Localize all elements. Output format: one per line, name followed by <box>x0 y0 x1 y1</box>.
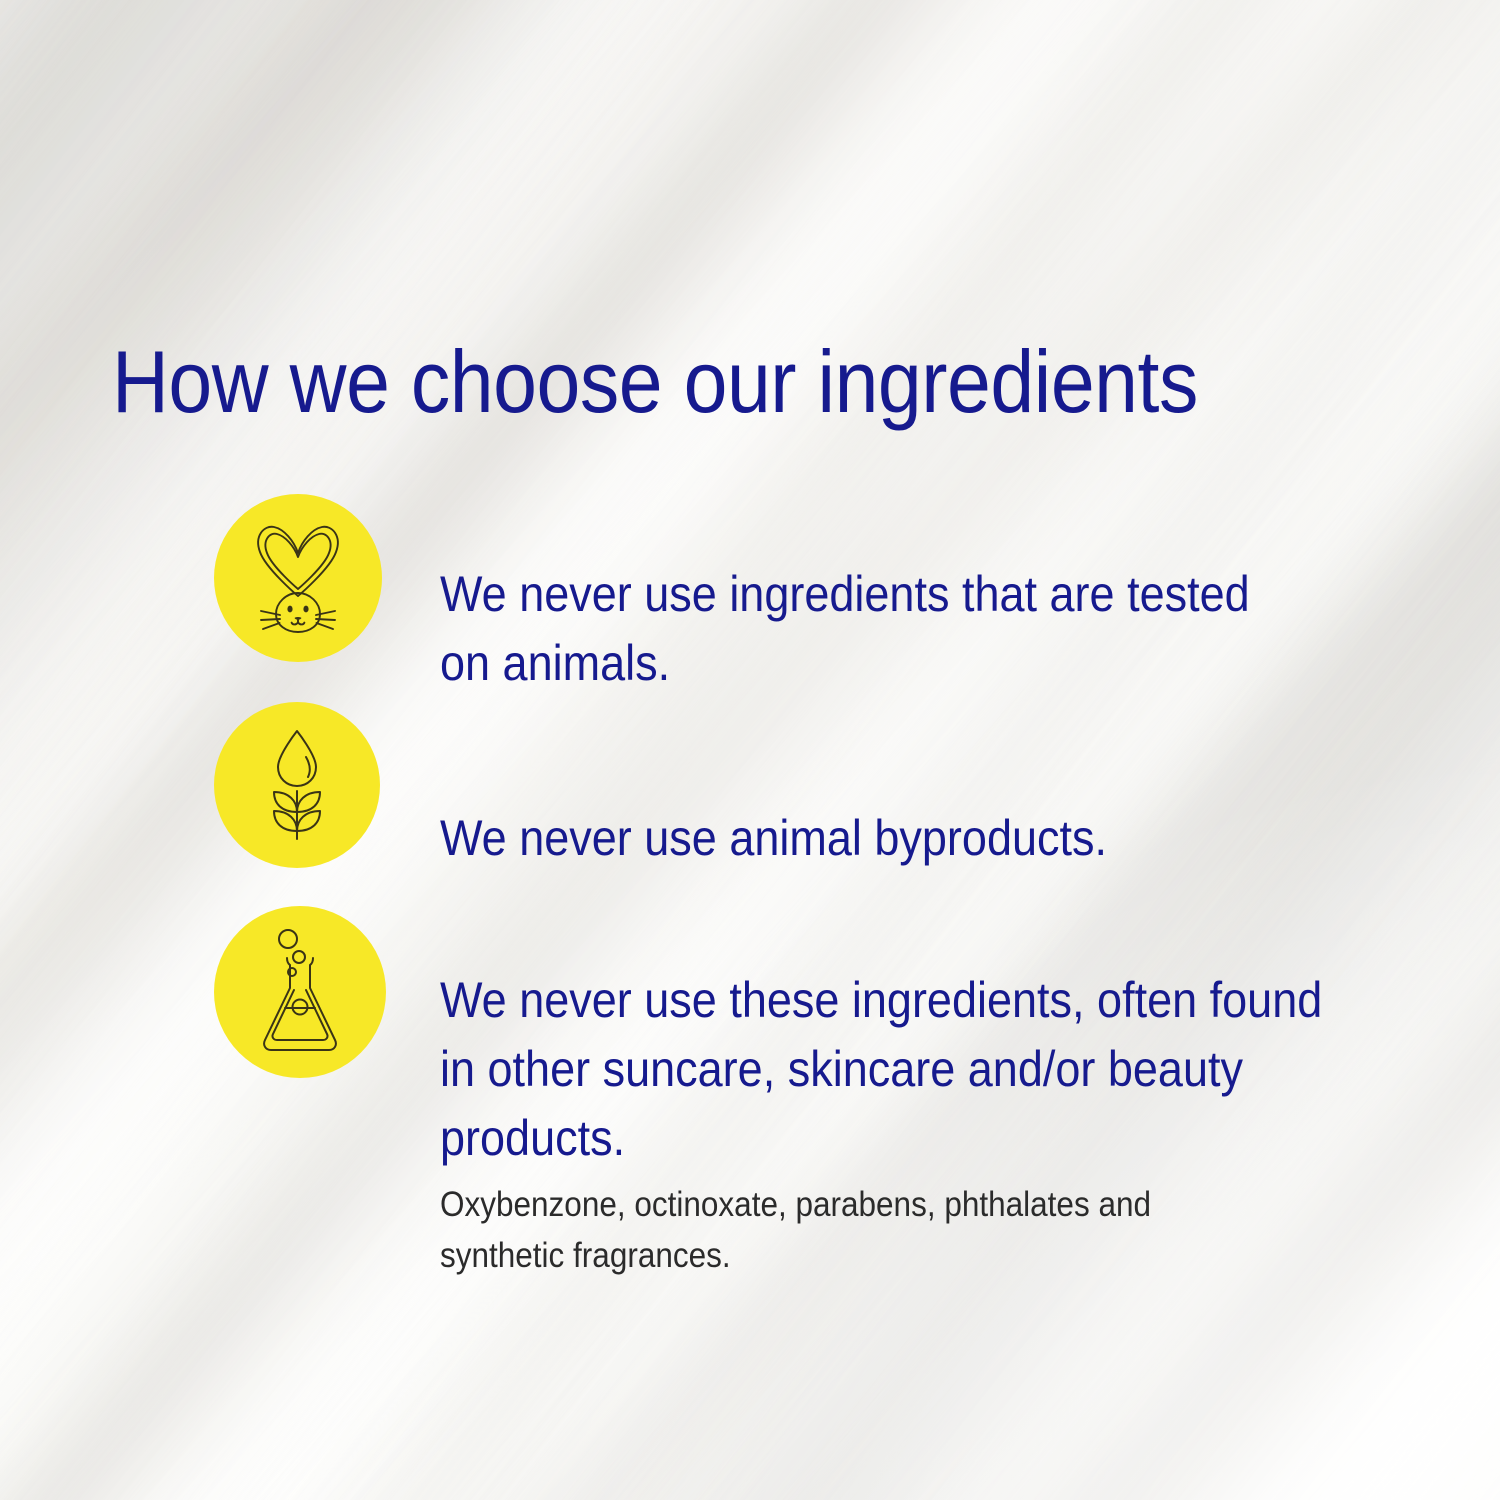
droplet-plant-icon <box>254 727 340 843</box>
feature-text: We never use these ingredients, often fo… <box>440 966 1349 1173</box>
feature-icon-badge <box>214 906 386 1078</box>
flask-bubbles-icon <box>258 928 342 1056</box>
feature-icon-badge <box>214 494 382 662</box>
feature-icon-badge <box>214 702 380 868</box>
ingredient-principles-graphic: How we choose our ingredients <box>0 0 1500 1500</box>
feature-text: We never use animal byproducts. <box>440 804 1250 873</box>
bunny-heart-ears-icon <box>248 519 348 637</box>
excluded-ingredients-note: Oxybenzone, octinoxate, parabens, phthal… <box>440 1179 1250 1281</box>
page-title: How we choose our ingredients <box>112 338 1198 426</box>
feature-text: We never use ingredients that are tested… <box>440 560 1250 698</box>
